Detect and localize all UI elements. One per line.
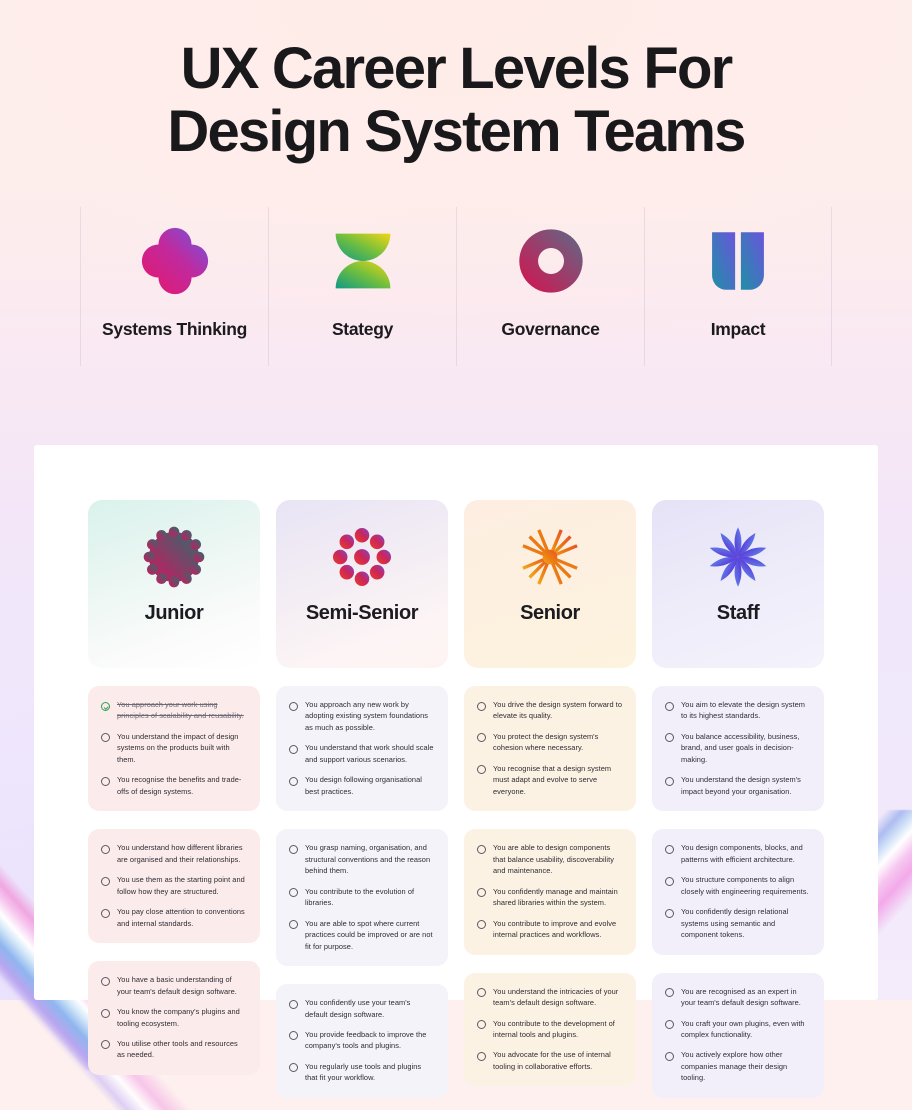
- criteria-item[interactable]: You design following organisational best…: [289, 774, 435, 797]
- circle-icon[interactable]: [665, 1052, 674, 1061]
- criteria-item[interactable]: You are able to design components that b…: [477, 842, 623, 876]
- criteria-item[interactable]: You use them as the starting point and f…: [101, 874, 247, 897]
- criteria-text: You understand that work should scale an…: [305, 742, 435, 765]
- page-title-line-2: Design System Teams: [0, 101, 912, 164]
- criteria-item[interactable]: You regularly use tools and plugins that…: [289, 1061, 435, 1084]
- criteria-item[interactable]: You understand that work should scale an…: [289, 742, 435, 765]
- circle-icon[interactable]: [289, 745, 298, 754]
- criteria-text: You understand the design system's impac…: [681, 774, 811, 797]
- level-name: Staff: [717, 602, 759, 625]
- criteria-item[interactable]: You recognise that a design system must …: [477, 763, 623, 797]
- circle-icon[interactable]: [289, 888, 298, 897]
- criteria-item[interactable]: You are recognised as an expert in your …: [665, 986, 811, 1009]
- criteria-item[interactable]: You contribute to improve and evolve int…: [477, 918, 623, 941]
- pillar-label: Governance: [501, 319, 599, 340]
- scalloped-circle-icon: [141, 524, 207, 590]
- criteria-item[interactable]: You contribute to the development of int…: [477, 1018, 623, 1041]
- criteria-item[interactable]: You understand how different libraries a…: [101, 842, 247, 865]
- circle-icon[interactable]: [477, 733, 486, 742]
- criteria-item[interactable]: You pay close attention to conventions a…: [101, 906, 247, 929]
- criteria-item[interactable]: You know the company's plugins and tooli…: [101, 1006, 247, 1029]
- level-card-semi-senior[interactable]: Semi-Senior: [276, 500, 448, 668]
- circle-icon[interactable]: [101, 1040, 110, 1049]
- criteria-text: You aim to elevate the design system to …: [681, 699, 811, 722]
- criteria-text: You confidently manage and maintain shar…: [493, 886, 623, 909]
- circle-icon[interactable]: [101, 777, 110, 786]
- criteria-block: You grasp naming, organisation, and stru…: [276, 829, 448, 966]
- criteria-item[interactable]: You understand the intricacies of your t…: [477, 986, 623, 1009]
- levels-grid: Junior You approach your work using prin…: [88, 500, 824, 1098]
- criteria-item[interactable]: You drive the design system forward to e…: [477, 699, 623, 722]
- four-petal-flower-icon: [139, 225, 211, 297]
- criteria-text: You regularly use tools and plugins that…: [305, 1061, 435, 1084]
- criteria-item[interactable]: You are able to spot where current pract…: [289, 918, 435, 952]
- criteria-block: You are recognised as an expert in your …: [652, 973, 824, 1098]
- circle-icon[interactable]: [477, 765, 486, 774]
- criteria-text: You confidently use your team's default …: [305, 997, 435, 1020]
- circle-icon[interactable]: [101, 877, 110, 886]
- level-column-senior: Senior You drive the design system forwa…: [464, 500, 636, 1098]
- criteria-item[interactable]: You advocate for the use of internal too…: [477, 1049, 623, 1072]
- criteria-block: You understand the intricacies of your t…: [464, 973, 636, 1087]
- criteria-item[interactable]: You structure components to align closel…: [665, 874, 811, 897]
- circle-icon[interactable]: [665, 1020, 674, 1029]
- criteria-text: You understand the intricacies of your t…: [493, 986, 623, 1009]
- criteria-item[interactable]: You contribute to the evolution of libra…: [289, 886, 435, 909]
- level-name: Senior: [520, 602, 580, 625]
- criteria-text: You provide feedback to improve the comp…: [305, 1029, 435, 1052]
- page-title: UX Career Levels For Design System Teams: [0, 38, 912, 163]
- circle-icon[interactable]: [477, 702, 486, 711]
- circle-icon[interactable]: [289, 845, 298, 854]
- criteria-text: You contribute to the evolution of libra…: [305, 886, 435, 909]
- circle-icon[interactable]: [101, 733, 110, 742]
- criteria-block: You aim to elevate the design system to …: [652, 686, 824, 811]
- criteria-item[interactable]: You confidently design relational system…: [665, 906, 811, 940]
- criteria-block: You approach your work using principles …: [88, 686, 260, 811]
- circle-icon[interactable]: [477, 1052, 486, 1061]
- circle-icon[interactable]: [477, 920, 486, 929]
- circle-icon[interactable]: [665, 777, 674, 786]
- criteria-text: You understand the impact of design syst…: [117, 731, 247, 765]
- criteria-item[interactable]: You confidently manage and maintain shar…: [477, 886, 623, 909]
- criteria-block: You are able to design components that b…: [464, 829, 636, 954]
- criteria-text: You grasp naming, organisation, and stru…: [305, 842, 435, 876]
- criteria-item[interactable]: You have a basic understanding of your t…: [101, 974, 247, 997]
- page-header: UX Career Levels For Design System Teams: [0, 0, 912, 163]
- level-column-junior: Junior You approach your work using prin…: [88, 500, 260, 1098]
- circle-icon[interactable]: [477, 1020, 486, 1029]
- criteria-text: You craft your own plugins, even with co…: [681, 1018, 811, 1041]
- criteria-text: You recognise that a design system must …: [493, 763, 623, 797]
- criteria-item[interactable]: You provide feedback to improve the comp…: [289, 1029, 435, 1052]
- criteria-block: You approach any new work by adopting ex…: [276, 686, 448, 811]
- criteria-item[interactable]: You recognise the benefits and trade-off…: [101, 774, 247, 797]
- circle-icon[interactable]: [101, 845, 110, 854]
- criteria-text: You balance accessibility, business, bra…: [681, 731, 811, 765]
- criteria-block: You understand how different libraries a…: [88, 829, 260, 943]
- criteria-text: You design following organisational best…: [305, 774, 435, 797]
- criteria-item[interactable]: You grasp naming, organisation, and stru…: [289, 842, 435, 876]
- criteria-text: You are able to design components that b…: [493, 842, 623, 876]
- level-card-senior[interactable]: Senior: [464, 500, 636, 668]
- criteria-item[interactable]: You balance accessibility, business, bra…: [665, 731, 811, 765]
- criteria-item[interactable]: You approach your work using principles …: [101, 699, 247, 722]
- pillar-governance[interactable]: Governance: [456, 207, 644, 366]
- criteria-block: You confidently use your team's default …: [276, 984, 448, 1098]
- criteria-block: You design components, blocks, and patte…: [652, 829, 824, 954]
- criteria-text: You actively explore how other companies…: [681, 1049, 811, 1083]
- circle-icon[interactable]: [289, 920, 298, 929]
- criteria-item[interactable]: You design components, blocks, and patte…: [665, 842, 811, 865]
- sunburst-icon: [517, 524, 583, 590]
- criteria-text: You approach any new work by adopting ex…: [305, 699, 435, 733]
- level-card-staff[interactable]: Staff: [652, 500, 824, 668]
- level-card-junior[interactable]: Junior: [88, 500, 260, 668]
- criteria-block: You drive the design system forward to e…: [464, 686, 636, 811]
- criteria-text: You contribute to the development of int…: [493, 1018, 623, 1041]
- criteria-item[interactable]: You craft your own plugins, even with co…: [665, 1018, 811, 1041]
- criteria-item[interactable]: You utilise other tools and resources as…: [101, 1038, 247, 1061]
- criteria-text: You protect the design system's cohesion…: [493, 731, 623, 754]
- criteria-item[interactable]: You confidently use your team's default …: [289, 997, 435, 1020]
- criteria-text: You design components, blocks, and patte…: [681, 842, 811, 865]
- donut-icon: [515, 225, 587, 297]
- pillar-label: Impact: [711, 319, 766, 340]
- criteria-item[interactable]: You aim to elevate the design system to …: [665, 699, 811, 722]
- criteria-item[interactable]: You understand the design system's impac…: [665, 774, 811, 797]
- criteria-item[interactable]: You protect the design system's cohesion…: [477, 731, 623, 754]
- star-flower-icon: [705, 524, 771, 590]
- circle-icon[interactable]: [289, 1063, 298, 1072]
- criteria-text: You contribute to improve and evolve int…: [493, 918, 623, 941]
- criteria-text: You are recognised as an expert in your …: [681, 986, 811, 1009]
- level-column-staff: Staff You aim to elevate the design syst…: [652, 500, 824, 1098]
- circle-icon[interactable]: [101, 1009, 110, 1018]
- dot-ring-icon: [329, 524, 395, 590]
- criteria-text: You structure components to align closel…: [681, 874, 811, 897]
- level-name: Semi-Senior: [306, 602, 418, 625]
- pillar-label: Systems Thinking: [102, 319, 247, 340]
- circle-icon[interactable]: [665, 909, 674, 918]
- criteria-text: You use them as the starting point and f…: [117, 874, 247, 897]
- page-title-line-1: UX Career Levels For: [0, 38, 912, 101]
- criteria-text: You confidently design relational system…: [681, 906, 811, 940]
- circle-icon[interactable]: [665, 702, 674, 711]
- criteria-text: You advocate for the use of internal too…: [493, 1049, 623, 1072]
- criteria-item[interactable]: You understand the impact of design syst…: [101, 731, 247, 765]
- hourglass-icon: [327, 225, 399, 297]
- circle-icon[interactable]: [101, 977, 110, 986]
- circle-icon[interactable]: [477, 988, 486, 997]
- two-bars-icon: [702, 225, 774, 297]
- circle-icon[interactable]: [665, 988, 674, 997]
- circle-icon[interactable]: [289, 702, 298, 711]
- criteria-item[interactable]: You actively explore how other companies…: [665, 1049, 811, 1083]
- level-name: Junior: [145, 602, 204, 625]
- criteria-text: You pay close attention to conventions a…: [117, 906, 247, 929]
- criteria-block: You have a basic understanding of your t…: [88, 961, 260, 1075]
- check-circle-icon[interactable]: [101, 702, 110, 711]
- circle-icon[interactable]: [101, 909, 110, 918]
- criteria-text: You have a basic understanding of your t…: [117, 974, 247, 997]
- circle-icon[interactable]: [289, 1031, 298, 1040]
- pillar-systems-thinking[interactable]: Systems Thinking: [80, 207, 268, 366]
- level-column-semi-senior: Semi-Senior You approach any new work by…: [276, 500, 448, 1098]
- criteria-item[interactable]: You approach any new work by adopting ex…: [289, 699, 435, 733]
- criteria-text: You know the company's plugins and tooli…: [117, 1006, 247, 1029]
- pillar-stategy[interactable]: Stategy: [268, 207, 456, 366]
- circle-icon[interactable]: [289, 1000, 298, 1009]
- circle-icon[interactable]: [665, 877, 674, 886]
- pillar-impact[interactable]: Impact: [644, 207, 832, 366]
- circle-icon[interactable]: [665, 733, 674, 742]
- circle-icon[interactable]: [477, 845, 486, 854]
- pillar-row: Systems Thinking Stategy Governance: [0, 207, 912, 366]
- circle-icon[interactable]: [665, 845, 674, 854]
- criteria-text: You utilise other tools and resources as…: [117, 1038, 247, 1061]
- criteria-text: You drive the design system forward to e…: [493, 699, 623, 722]
- pillar-label: Stategy: [332, 319, 393, 340]
- criteria-text: You understand how different libraries a…: [117, 842, 247, 865]
- circle-icon[interactable]: [289, 777, 298, 786]
- criteria-text: You approach your work using principles …: [117, 699, 247, 722]
- criteria-text: You recognise the benefits and trade-off…: [117, 774, 247, 797]
- circle-icon[interactable]: [477, 888, 486, 897]
- criteria-text: You are able to spot where current pract…: [305, 918, 435, 952]
